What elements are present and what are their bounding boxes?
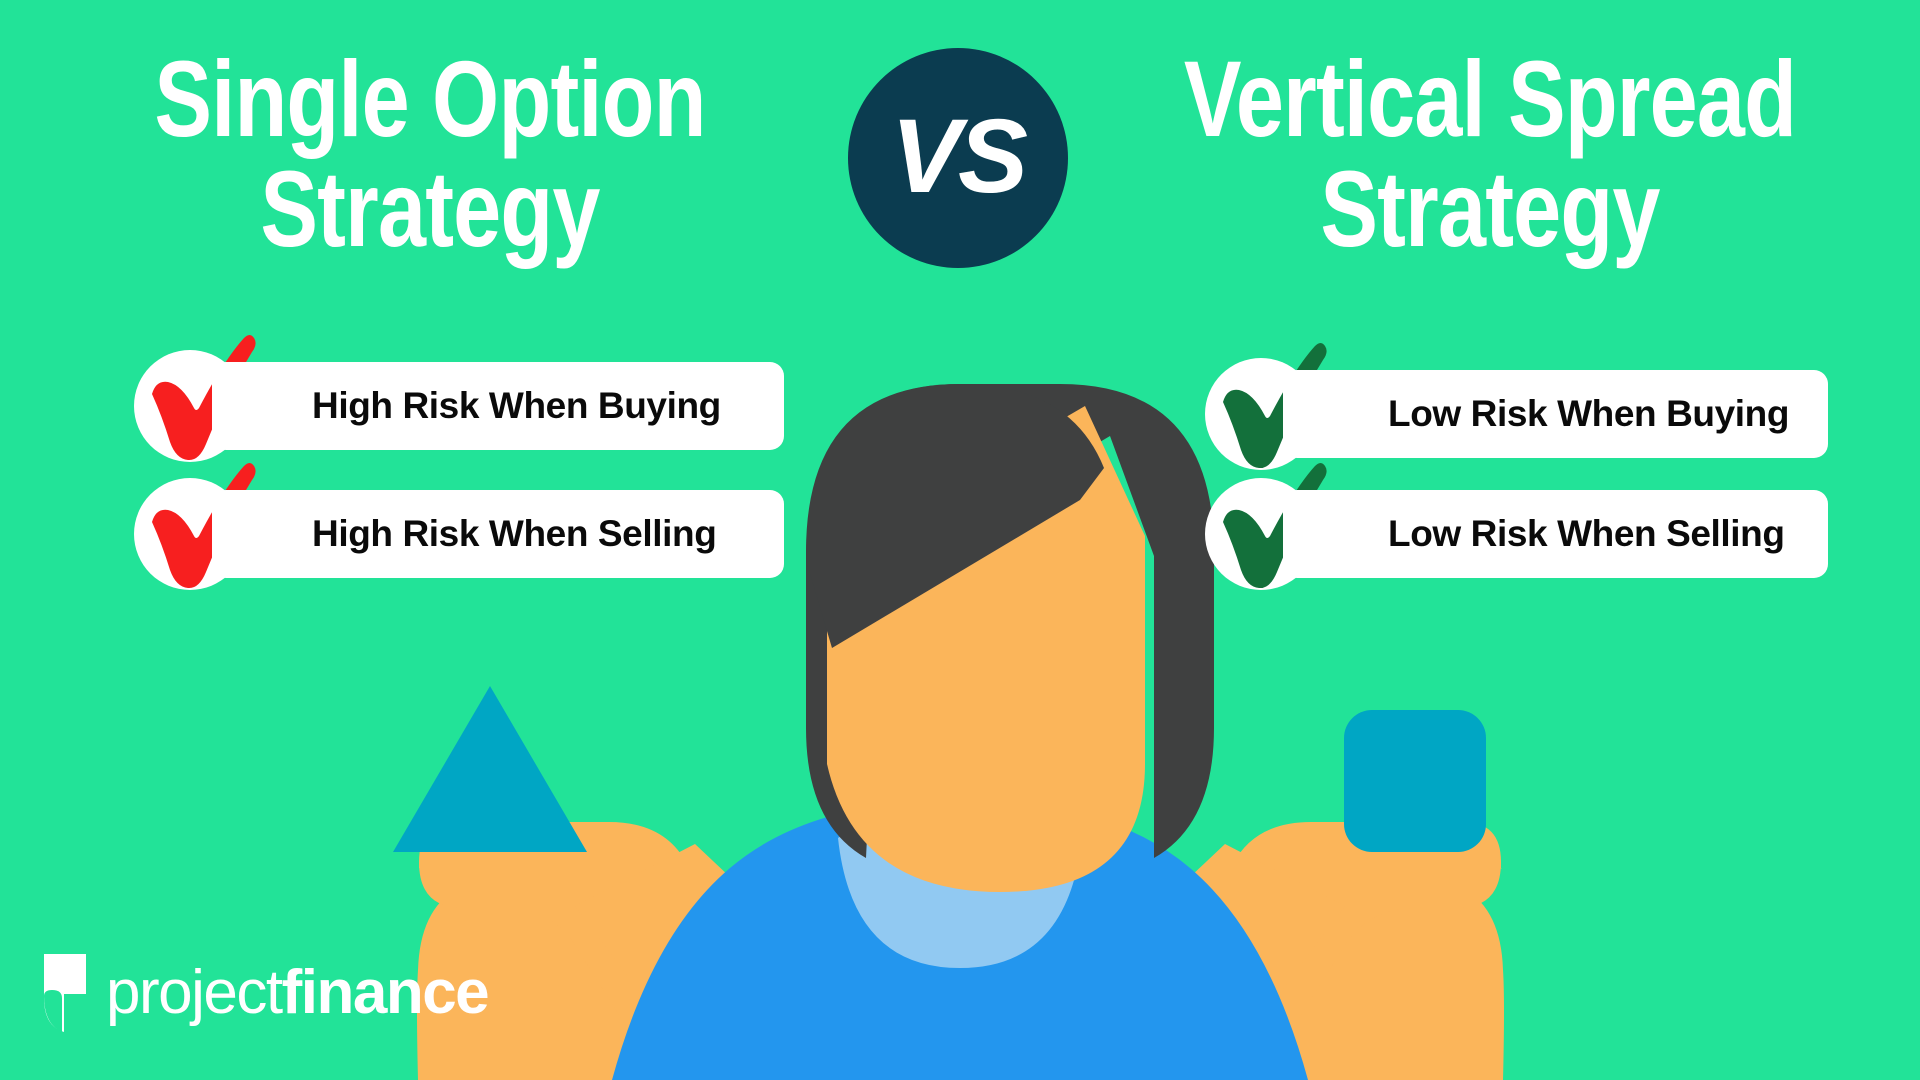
right-strategy-title: Vertical Spread Strategy xyxy=(1146,44,1834,264)
vs-label: VS xyxy=(891,104,1025,209)
feature-pill: Low Risk When Buying xyxy=(1283,370,1828,458)
feature-label: High Risk When Selling xyxy=(312,513,716,555)
right-arm xyxy=(1032,824,1504,1080)
triangle-shape xyxy=(393,686,587,852)
feature-pill: Low Risk When Selling xyxy=(1283,490,1828,578)
neck xyxy=(878,660,1042,908)
feature-label: Low Risk When Buying xyxy=(1388,393,1789,435)
shirt xyxy=(612,800,1308,1080)
hair xyxy=(806,384,1214,858)
right-forearm xyxy=(975,844,1345,1080)
left-feature-row-1: High Risk When Buying xyxy=(134,350,774,462)
collar xyxy=(838,806,1082,968)
right-feature-row-2: Low Risk When Selling xyxy=(1205,478,1845,590)
hair-fringe xyxy=(806,384,1104,648)
feature-pill: High Risk When Selling xyxy=(212,490,784,578)
right-feature-row-1: Low Risk When Buying xyxy=(1205,358,1845,470)
logo-wordmark: projectfinance xyxy=(106,962,488,1024)
feature-label: Low Risk When Selling xyxy=(1388,513,1785,555)
logo-text-light: project xyxy=(106,958,282,1027)
projectfinance-logo: projectfinance xyxy=(40,950,488,1036)
head xyxy=(827,406,1145,892)
rounded-square-shape xyxy=(1344,710,1486,852)
right-hand xyxy=(1171,822,1501,1034)
left-feature-row-2: High Risk When Selling xyxy=(134,478,774,590)
infographic-canvas: Single Option Strategy Vertical Spread S… xyxy=(0,0,1920,1080)
left-forearm xyxy=(575,844,945,1080)
logo-text-bold: finance xyxy=(282,958,489,1027)
projectfinance-flag-icon xyxy=(40,952,90,1034)
feature-pill: High Risk When Buying xyxy=(212,362,784,450)
vs-badge: VS xyxy=(848,48,1068,268)
feature-label: High Risk When Buying xyxy=(312,385,721,427)
left-strategy-title: Single Option Strategy xyxy=(86,44,774,264)
